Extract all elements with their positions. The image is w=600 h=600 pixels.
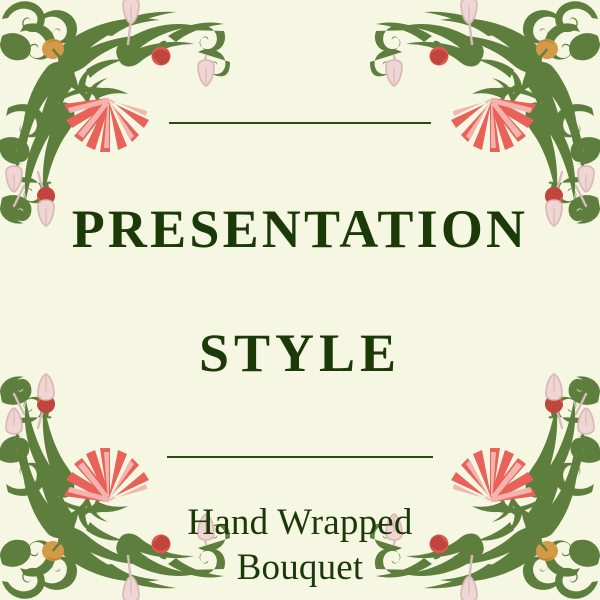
page-subtitle: Hand Wrapped Bouquet (0, 458, 600, 590)
page-subtitle-line-2: Bouquet (0, 545, 600, 590)
poster-canvas: PRESENTATION STYLE Hand Wrapped Bouquet (0, 0, 600, 600)
page-title-line-2: STYLE (0, 322, 600, 384)
center-text-block: PRESENTATION STYLE Hand Wrapped Bouquet (0, 122, 600, 590)
berry (152, 47, 171, 66)
page-title: PRESENTATION STYLE (0, 136, 600, 446)
pink-bud-top (461, 0, 477, 24)
pink-bud-right (198, 60, 214, 86)
divider-rule-top (169, 122, 431, 124)
acorn-bud (42, 39, 66, 60)
pink-bud-top (123, 0, 139, 24)
page-subtitle-line-1: Hand Wrapped (0, 500, 600, 545)
acorn-bud (534, 39, 558, 60)
page-title-line-1: PRESENTATION (0, 198, 600, 260)
pink-bud-right (386, 60, 402, 86)
